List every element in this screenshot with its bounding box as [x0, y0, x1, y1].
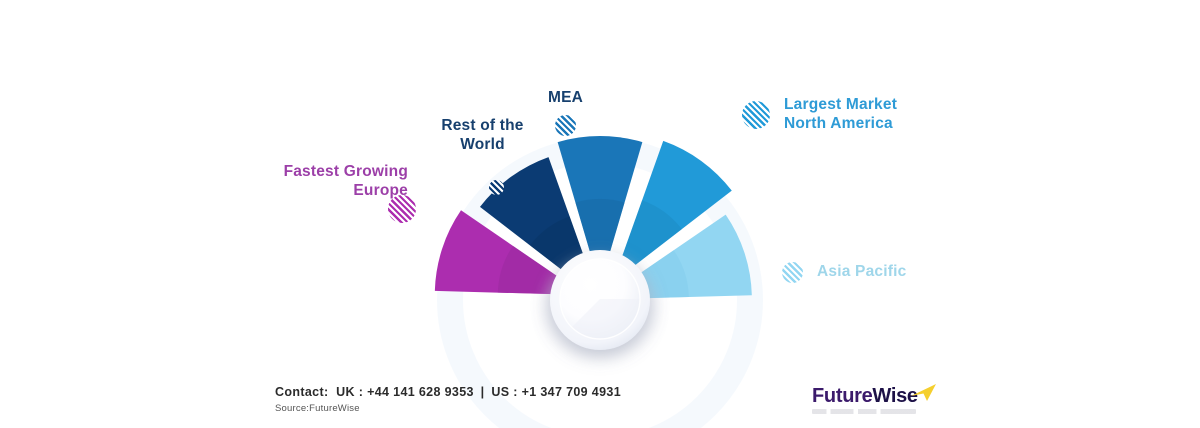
label-asia-pacific: Asia Pacific — [817, 263, 906, 282]
contact-separator: | — [478, 385, 488, 399]
semi-donut-regional-share-chart — [0, 0, 1200, 428]
label-north-america-annotation: Largest Market — [784, 96, 897, 115]
label-europe: Fastest Growing Europe — [258, 163, 408, 201]
uk-phone[interactable]: +44 141 628 9353 — [367, 385, 474, 399]
striped-circle-icon-rest-of-world — [489, 180, 504, 195]
label-rest-of-world-wrap: Rest of the World — [420, 117, 545, 155]
label-europe-name: Europe — [258, 182, 408, 201]
label-rest-of-world: Rest of the World — [420, 117, 545, 155]
striped-circle-icon-asia-pacific — [782, 262, 803, 283]
label-rest-of-world-line1: Rest of the — [420, 117, 545, 136]
label-north-america: Largest Market North America — [784, 96, 897, 134]
label-north-america-wrap: Largest Market North America — [742, 96, 897, 134]
label-mea-name: MEA — [548, 89, 583, 108]
label-europe-annotation: Fastest Growing — [258, 163, 408, 182]
logo-tagline — [812, 409, 916, 414]
source-line: Source:FutureWise — [275, 403, 621, 414]
footer: Contact: UK : +44 141 628 9353 | US : +1… — [275, 385, 621, 414]
logo-wordmark: FutureWise — [812, 386, 918, 406]
label-mea-wrap: MEA — [548, 89, 583, 136]
label-rest-of-world-line2: World — [420, 136, 545, 155]
label-asia-pacific-name: Asia Pacific — [817, 263, 906, 282]
contact-line: Contact: UK : +44 141 628 9353 | US : +1… — [275, 385, 621, 399]
label-asia-pacific-wrap: Asia Pacific — [782, 262, 906, 283]
label-north-america-name: North America — [784, 115, 897, 134]
striped-circle-icon-europe — [388, 195, 416, 223]
contact-prefix: Contact: — [275, 385, 329, 399]
striped-circle-icon-north-america — [742, 101, 770, 129]
us-label: US : — [491, 385, 517, 399]
logo-swoosh-icon — [910, 383, 938, 403]
marker-rest-of-world-wrap — [489, 180, 504, 195]
marker-europe-wrap — [388, 195, 416, 223]
infographic-canvas: Fastest Growing Europe Rest of the World… — [0, 0, 1200, 428]
us-phone[interactable]: +1 347 709 4931 — [522, 385, 621, 399]
logo-text-future: Future — [812, 385, 872, 407]
striped-circle-icon-mea — [555, 115, 576, 136]
futurewise-logo[interactable]: FutureWise — [812, 386, 918, 414]
uk-label: UK : — [336, 385, 363, 399]
label-mea: MEA — [548, 89, 583, 108]
